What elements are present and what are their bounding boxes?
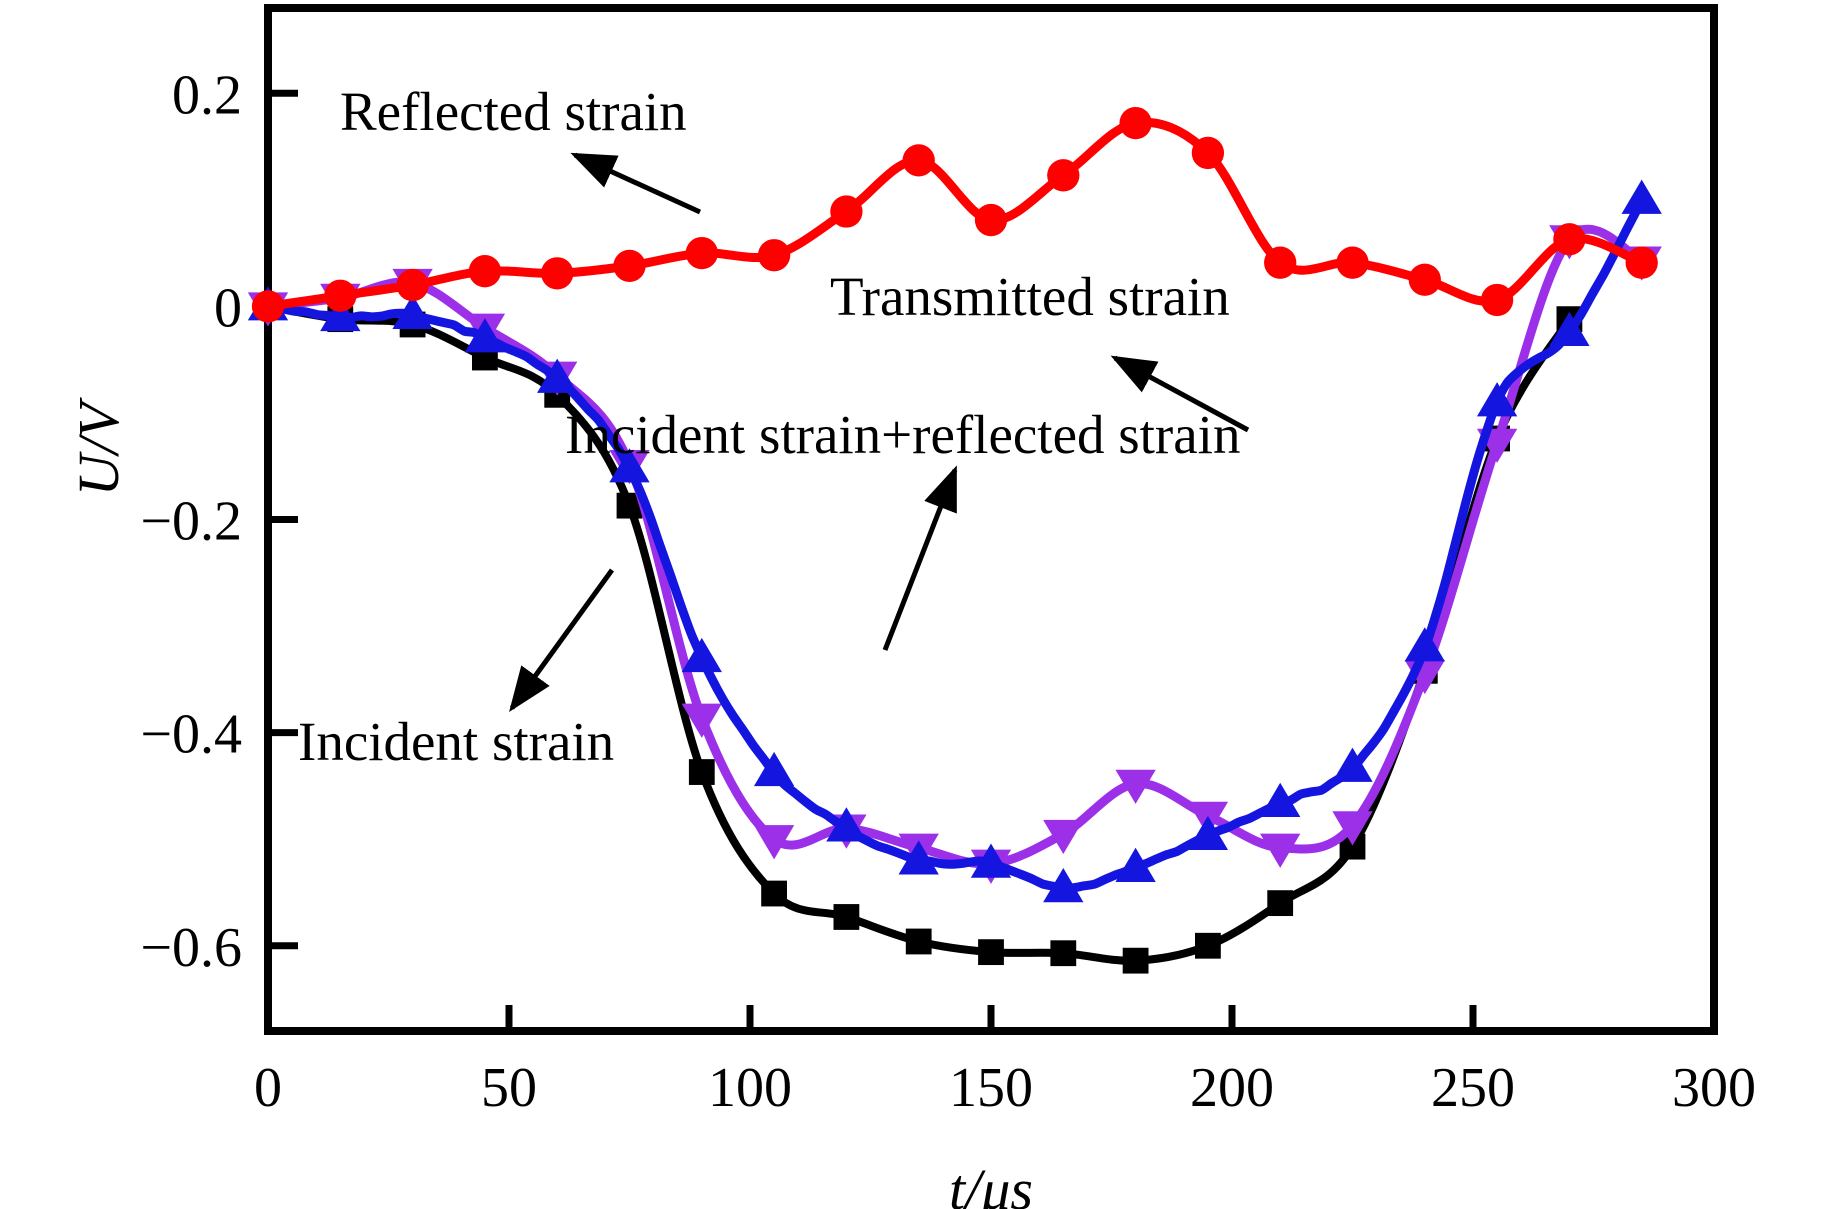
y-tick-label: −0.6: [140, 917, 242, 979]
data-marker: [469, 255, 501, 287]
data-marker: [834, 904, 860, 930]
chart-canvas: Reflected strainTransmitted strainIncide…: [0, 0, 1843, 1209]
data-marker: [252, 290, 284, 322]
annotation-label: Incident strain: [298, 711, 614, 772]
data-marker: [906, 929, 932, 955]
data-marker: [830, 195, 862, 227]
y-tick-label: −0.4: [140, 704, 242, 766]
data-marker: [686, 237, 718, 269]
data-marker: [1336, 247, 1368, 279]
data-marker: [1047, 159, 1079, 191]
x-tick-label: 150: [949, 1057, 1033, 1119]
x-axis-title: t/μs: [949, 1157, 1033, 1209]
data-marker: [1050, 940, 1076, 966]
y-axis-title: U/V: [66, 396, 131, 496]
data-marker: [1192, 137, 1224, 169]
y-tick-label: 0.2: [172, 64, 242, 126]
data-marker: [903, 144, 935, 176]
annotation-label: Transmitted strain: [830, 266, 1230, 327]
data-marker: [975, 204, 1007, 236]
data-marker: [1119, 107, 1151, 139]
data-marker: [1553, 223, 1585, 255]
data-marker: [1264, 247, 1296, 279]
x-tick-label: 300: [1672, 1057, 1756, 1119]
data-marker: [1195, 933, 1221, 959]
x-tick-label: 250: [1431, 1057, 1515, 1119]
y-tick-label: 0: [214, 277, 242, 339]
data-marker: [1409, 264, 1441, 296]
y-tick-label: −0.2: [140, 491, 242, 553]
data-marker: [324, 280, 356, 312]
strain-waveform-chart: Reflected strainTransmitted strainIncide…: [0, 0, 1843, 1209]
data-marker: [761, 881, 787, 907]
data-marker: [613, 250, 645, 282]
x-tick-label: 0: [254, 1057, 282, 1119]
data-marker: [689, 759, 715, 785]
data-marker: [978, 939, 1004, 965]
x-tick-label: 200: [1190, 1057, 1274, 1119]
annotation-label: Reflected strain: [340, 81, 687, 142]
data-marker: [1481, 284, 1513, 316]
x-tick-label: 50: [481, 1057, 537, 1119]
data-marker: [1123, 948, 1149, 974]
annotation-label: Incident strain+reflected strain: [565, 404, 1240, 465]
data-marker: [396, 269, 428, 301]
data-marker: [1267, 890, 1293, 916]
data-marker: [758, 239, 790, 271]
x-tick-label: 100: [708, 1057, 792, 1119]
data-marker: [541, 257, 573, 289]
data-marker: [1626, 247, 1658, 279]
